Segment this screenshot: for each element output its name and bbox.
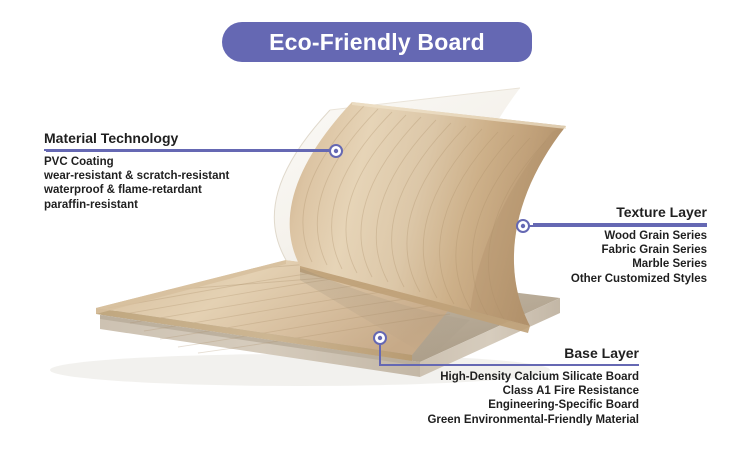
callout-line: Engineering-Specific Board (388, 398, 639, 412)
callout-lines-texture-layer: Wood Grain Series Fabric Grain Series Ma… (533, 229, 707, 286)
page-title: Eco-Friendly Board (269, 29, 485, 56)
callout-heading-base-layer: Base Layer (388, 345, 639, 362)
callout-texture-layer: Texture Layer Wood Grain Series Fabric G… (533, 204, 707, 286)
callout-heading-texture-layer: Texture Layer (533, 204, 707, 221)
callout-line: Fabric Grain Series (533, 243, 707, 257)
callout-line: waterproof & flame-retardant (44, 183, 330, 197)
callout-line: wear-resistant & scratch-resistant (44, 169, 330, 183)
callout-line: Other Customized Styles (533, 272, 707, 286)
callout-heading-material-technology: Material Technology (44, 130, 330, 147)
callout-rule-base-layer (388, 364, 639, 366)
page-title-banner: Eco-Friendly Board (222, 22, 532, 62)
callout-material-technology: Material Technology PVC Coating wear-res… (44, 130, 330, 212)
callout-line: Marble Series (533, 257, 707, 271)
callout-rule-material-technology (44, 149, 330, 151)
callout-base-layer: Base Layer High-Density Calcium Silicate… (388, 345, 639, 427)
infographic-root: Eco-Friendly Board (0, 0, 750, 468)
callout-line: Green Environmental-Friendly Material (388, 413, 639, 427)
callout-rule-texture-layer (533, 223, 707, 225)
callout-lines-material-technology: PVC Coating wear-resistant & scratch-res… (44, 155, 330, 212)
callout-line: High-Density Calcium Silicate Board (388, 370, 639, 384)
callout-line: Wood Grain Series (533, 229, 707, 243)
callout-lines-base-layer: High-Density Calcium Silicate Board Clas… (388, 370, 639, 427)
callout-line: paraffin-resistant (44, 198, 330, 212)
callout-line: PVC Coating (44, 155, 330, 169)
callout-line: Class A1 Fire Resistance (388, 384, 639, 398)
